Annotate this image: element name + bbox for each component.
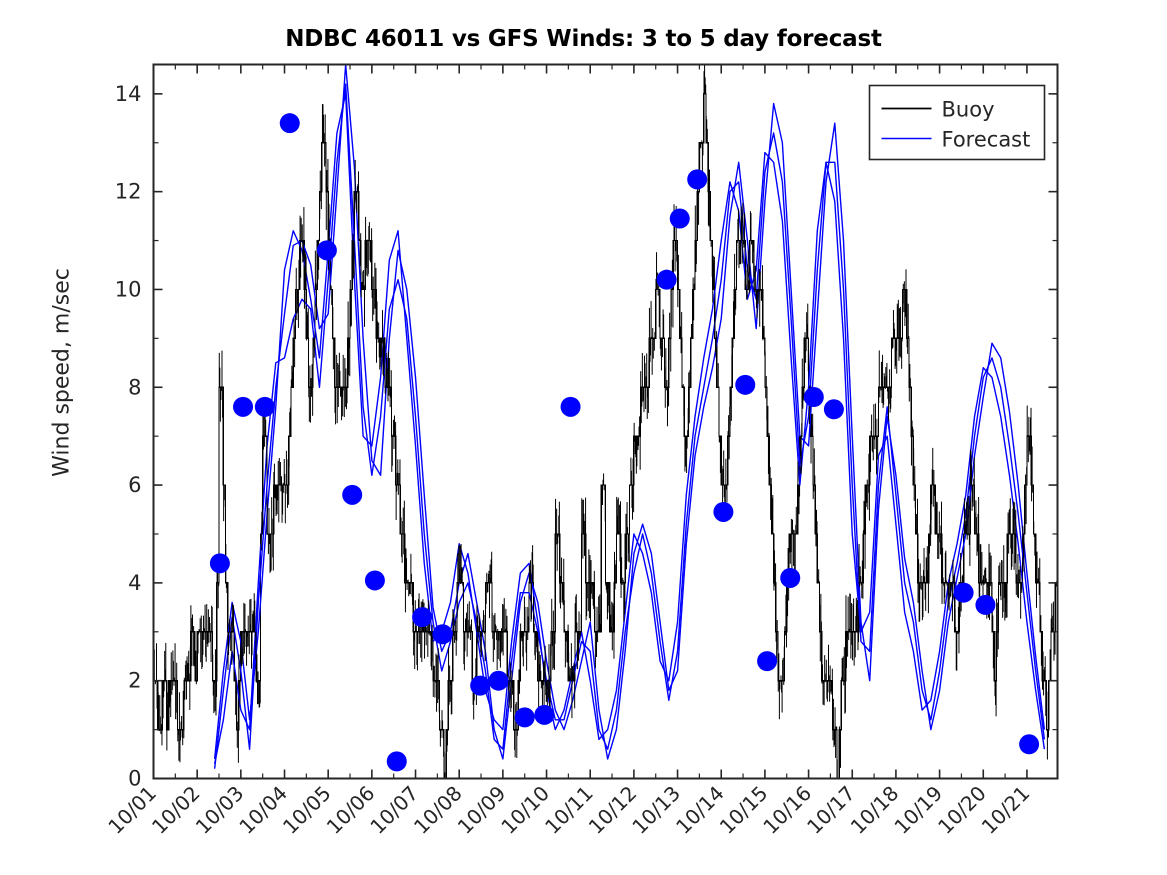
x-tick-label: 10/09 bbox=[453, 781, 511, 839]
y-tick-label: 4 bbox=[128, 571, 141, 595]
legend-label-buoy: Buoy bbox=[942, 98, 995, 122]
forecast-marker-group bbox=[210, 113, 1039, 771]
forecast-marker-point bbox=[735, 375, 755, 395]
y-tick-label: 2 bbox=[128, 669, 141, 693]
forecast-marker-point bbox=[489, 671, 509, 691]
forecast-series-line-2 bbox=[215, 84, 1045, 764]
plot-data-layer bbox=[154, 65, 1058, 779]
y-tick-label: 14 bbox=[115, 82, 142, 106]
y-tick-label: 6 bbox=[128, 473, 141, 497]
legend-label-forecast: Forecast bbox=[942, 128, 1031, 152]
x-tick-label: 10/10 bbox=[496, 781, 554, 839]
y-axis: 02468101214 bbox=[115, 82, 1058, 791]
forecast-marker-point bbox=[342, 485, 362, 505]
forecast-series-line-1 bbox=[215, 65, 1045, 769]
forecast-marker-point bbox=[534, 705, 554, 725]
x-tick-label: 10/08 bbox=[409, 781, 467, 839]
forecast-marker-point bbox=[713, 502, 733, 522]
x-tick-label: 10/18 bbox=[846, 781, 904, 839]
figure-canvas: NDBC 46011 vs GFS Winds: 3 to 5 day fore… bbox=[0, 0, 1167, 875]
forecast-marker-point bbox=[561, 397, 581, 417]
wind-speed-chart: 0246810121410/0110/0210/0310/0410/0510/0… bbox=[0, 0, 1167, 875]
forecast-marker-point bbox=[433, 624, 453, 644]
forecast-marker-point bbox=[975, 595, 995, 615]
x-tick-label: 10/20 bbox=[933, 781, 991, 839]
forecast-marker-point bbox=[470, 676, 490, 696]
x-axis: 10/0110/0210/0310/0410/0510/0610/0710/08… bbox=[103, 65, 1034, 839]
x-tick-label: 10/21 bbox=[977, 781, 1035, 839]
forecast-marker-point bbox=[280, 113, 300, 133]
x-tick-label: 10/13 bbox=[627, 781, 685, 839]
x-tick-label: 10/16 bbox=[758, 781, 816, 839]
forecast-marker-point bbox=[804, 387, 824, 407]
forecast-marker-point bbox=[365, 570, 385, 590]
forecast-marker-point bbox=[210, 553, 230, 573]
x-tick-label: 10/14 bbox=[671, 781, 729, 839]
forecast-marker-point bbox=[515, 707, 535, 727]
forecast-marker-point bbox=[233, 397, 253, 417]
x-tick-label: 10/03 bbox=[191, 781, 249, 839]
x-tick-label: 10/15 bbox=[715, 781, 773, 839]
forecast-marker-point bbox=[657, 270, 677, 290]
x-tick-label: 10/11 bbox=[540, 781, 598, 839]
forecast-marker-point bbox=[412, 607, 432, 627]
y-tick-label: 10 bbox=[115, 277, 142, 301]
x-tick-label: 10/04 bbox=[234, 781, 292, 839]
forecast-marker-point bbox=[757, 651, 777, 671]
x-tick-label: 10/06 bbox=[322, 781, 380, 839]
legend[interactable]: BuoyForecast bbox=[870, 86, 1045, 160]
x-tick-label: 10/02 bbox=[147, 781, 205, 839]
x-tick-label: 10/17 bbox=[802, 781, 860, 839]
forecast-marker-point bbox=[387, 751, 407, 771]
forecast-marker-point bbox=[317, 240, 337, 260]
forecast-marker-point bbox=[954, 583, 974, 603]
y-tick-label: 8 bbox=[128, 375, 141, 399]
forecast-marker-point bbox=[824, 399, 844, 419]
x-tick-label: 10/07 bbox=[365, 781, 423, 839]
x-tick-label: 10/12 bbox=[584, 781, 642, 839]
forecast-marker-point bbox=[1019, 734, 1039, 754]
x-tick-label: 10/05 bbox=[278, 781, 336, 839]
y-tick-label: 12 bbox=[115, 180, 142, 204]
forecast-marker-point bbox=[670, 209, 690, 229]
x-tick-label: 10/19 bbox=[889, 781, 947, 839]
forecast-marker-point bbox=[780, 568, 800, 588]
forecast-marker-point bbox=[255, 397, 275, 417]
forecast-marker-point bbox=[687, 169, 707, 189]
